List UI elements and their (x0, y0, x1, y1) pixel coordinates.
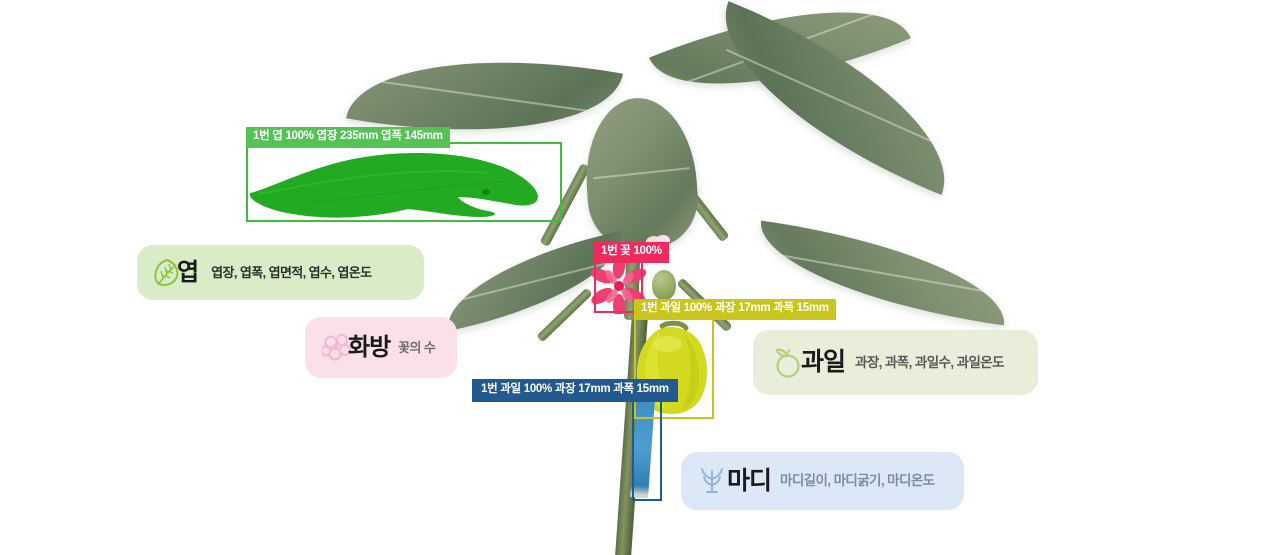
legend-chip-flower[interactable]: 화방 꽃의 수 (305, 317, 457, 378)
green-bud (652, 270, 676, 300)
legend-items-node: 마디길이, 마디굵기, 마디온도 (780, 474, 934, 488)
detection-box-leaf[interactable] (246, 142, 562, 222)
leaf-center-upright (581, 94, 701, 251)
detection-label-flower: 1번 꽃 100% (594, 242, 669, 263)
legend-title-fruit: 과일 (801, 350, 845, 375)
legend-items-flower: 꽃의 수 (398, 341, 435, 354)
legend-chip-leaf[interactable]: 엽 엽장, 엽폭, 엽면적, 엽수, 엽온도 (137, 245, 424, 300)
legend-chip-fruit[interactable]: 과일 과장, 과폭, 과일수, 과일온도 (753, 330, 1038, 395)
legend-title-node: 마디 (727, 469, 771, 494)
node-icon (697, 466, 727, 496)
annotated-plant-canvas: 1번 엽 100% 엽장 235mm 엽폭 145mm 1번 꽃 100% 1번… (0, 0, 1280, 555)
detection-label-node: 1번 과일 100% 과장 17mm 과폭 15mm (472, 379, 678, 402)
detection-label-fruit: 1번 과일 100% 과장 17mm 과폭 15mm (634, 299, 836, 320)
legend-items-leaf: 엽장, 엽폭, 엽면적, 엽수, 엽온도 (211, 266, 371, 279)
legend-title-flower: 화방 (348, 336, 390, 360)
legend-items-fruit: 과장, 과폭, 과일수, 과일온도 (855, 356, 1004, 370)
detection-box-node[interactable] (632, 398, 662, 501)
legend-title-leaf: 엽 (177, 261, 198, 285)
legend-chip-node[interactable]: 마디 마디길이, 마디굵기, 마디온도 (681, 452, 964, 510)
fruit-icon (771, 347, 803, 379)
detection-label-leaf: 1번 엽 100% 엽장 235mm 엽폭 145mm (246, 127, 450, 148)
